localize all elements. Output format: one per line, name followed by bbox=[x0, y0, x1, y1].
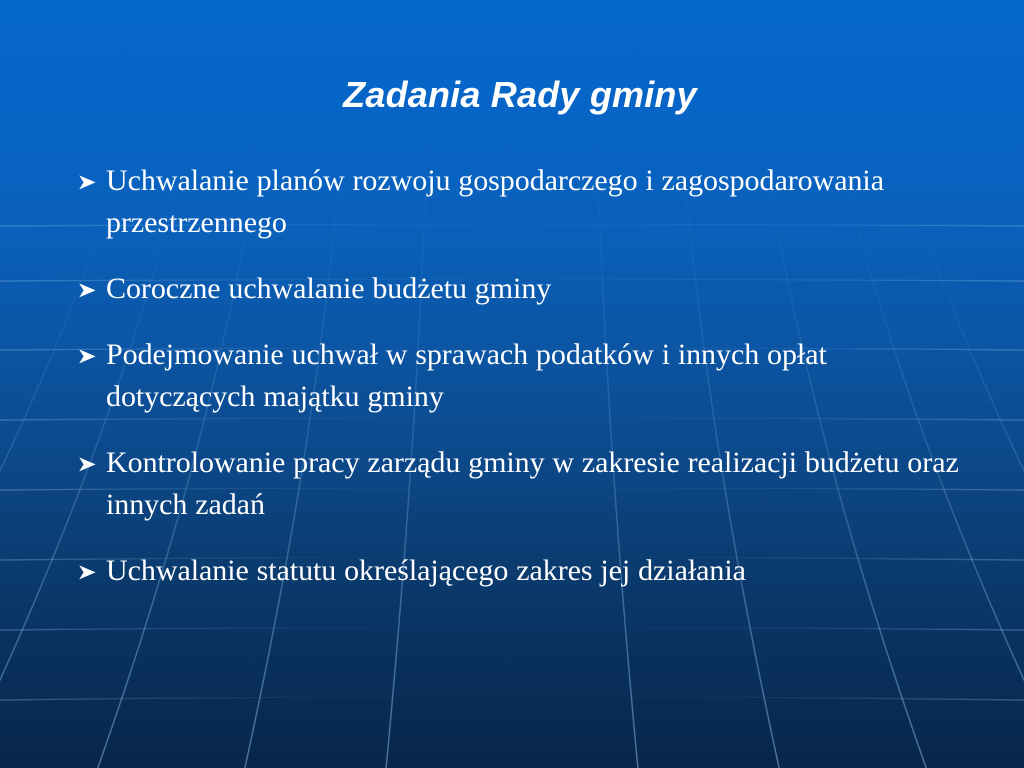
list-item: Uchwalanie statutu określającego zakres … bbox=[78, 550, 978, 592]
list-item: Coroczne uchwalanie budżetu gminy bbox=[78, 268, 978, 310]
arrowhead-bullet-icon bbox=[78, 442, 106, 484]
list-item: Uchwalanie planów rozwoju gospodarczego … bbox=[78, 160, 978, 244]
presentation-slide: Zadania Rady gminy Uchwalanie planów roz… bbox=[0, 0, 1024, 768]
list-item-text: Coroczne uchwalanie budżetu gminy bbox=[106, 272, 551, 305]
slide-body-list: Uchwalanie planów rozwoju gospodarczego … bbox=[78, 160, 978, 592]
list-item-text: Uchwalanie statutu określającego zakres … bbox=[106, 554, 746, 587]
arrowhead-bullet-icon bbox=[78, 268, 106, 310]
list-item: Podejmowanie uchwał w sprawach podatków … bbox=[78, 334, 978, 418]
list-item: Kontrolowanie pracy zarządu gminy w zakr… bbox=[78, 442, 978, 526]
list-item-text: Kontrolowanie pracy zarządu gminy w zakr… bbox=[106, 446, 959, 521]
arrowhead-bullet-icon bbox=[78, 160, 106, 202]
slide-title: Zadania Rady gminy bbox=[0, 74, 1024, 116]
arrowhead-bullet-icon bbox=[78, 550, 106, 592]
slide-title-text: Zadania Rady gminy bbox=[343, 74, 697, 116]
arrowhead-bullet-icon bbox=[78, 334, 106, 376]
list-item-text: Podejmowanie uchwał w sprawach podatków … bbox=[106, 338, 827, 413]
list-item-text: Uchwalanie planów rozwoju gospodarczego … bbox=[106, 164, 884, 239]
